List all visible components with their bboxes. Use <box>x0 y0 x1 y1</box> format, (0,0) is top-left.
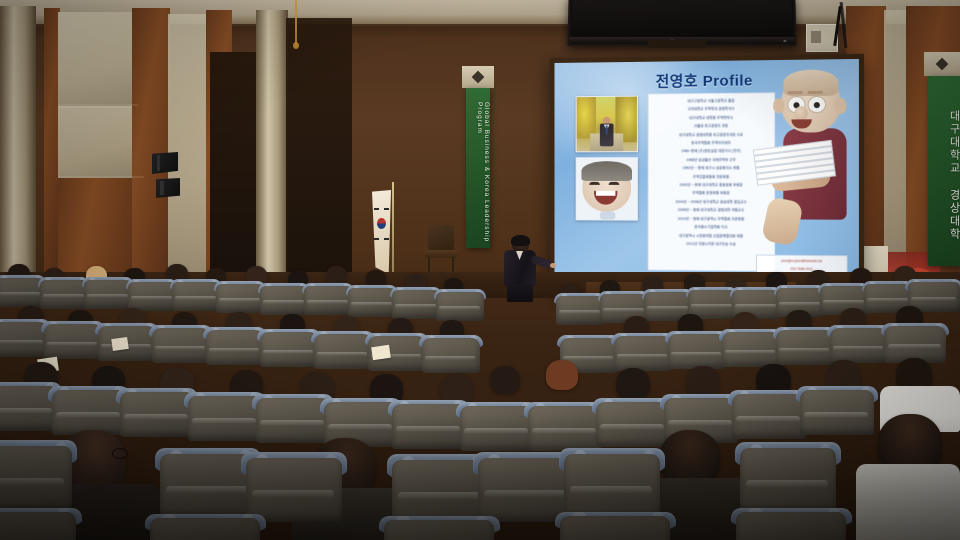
auditorium-seat-foreground <box>560 516 670 540</box>
wall-column-mid <box>256 10 288 296</box>
projection-screen: 전영호 Profile 대구고등학교 서울고등학교 졸업 고려대학교 무역학과 … <box>554 59 858 291</box>
taegeuk-symbol <box>377 218 386 229</box>
audience-head <box>490 366 520 394</box>
slide-bullet: 무역협회 운영위원 부회장 <box>651 189 773 198</box>
projection-screen-frame: 전영호 Profile 대구고등학교 서울고등학교 졸업 고려대학교 무역학과 … <box>550 54 864 296</box>
tv-mount-bracket <box>648 40 706 48</box>
banner-left: Global Business & Korea Leadership Progr… <box>466 88 490 248</box>
slide-portrait-photo <box>576 96 638 153</box>
slide-bullet: 2012년 자랑스러운 대구인상 수상 <box>651 240 773 249</box>
eyeglasses <box>112 448 128 459</box>
auditorium-seat-foreground <box>0 512 76 540</box>
hanging-cord-weight <box>293 42 299 49</box>
auditorium-seat-foreground <box>150 518 260 540</box>
banner-cap-left <box>462 66 494 88</box>
slide-bullet: 1992년 ~ 현재 대구대학교 총동창회 부회장 <box>651 181 773 190</box>
panel-trim-2 <box>58 176 144 178</box>
audience-seating-area <box>0 262 960 540</box>
handout-paper <box>111 337 129 351</box>
panel-trim-1 <box>58 104 138 106</box>
auditorium-photo: Panasonic Global Business & Korea Leader… <box>0 0 960 540</box>
auditorium-seat-foreground <box>736 512 846 540</box>
wall-column-left <box>0 6 36 294</box>
slide-bullet: 한국무역협회 무역아카데미 <box>651 139 773 148</box>
wood-pilaster-2 <box>132 8 170 296</box>
banner-right-text: 대구대학교 경상대학 <box>928 76 960 266</box>
banner-right: 대구대학교 경상대학 <box>928 76 960 266</box>
audience-shoulders-foreground <box>856 464 960 540</box>
banner-cap-right <box>924 52 960 76</box>
slide-bullet: 무역진흥위원회 전문위원 <box>651 173 773 181</box>
audience-head <box>546 360 578 390</box>
audience-head <box>616 368 650 400</box>
wall-speaker-upper <box>152 152 178 174</box>
beige-panel-upper-left <box>58 12 136 108</box>
banner-left-text: Global Business & Korea Leadership Progr… <box>466 88 490 248</box>
hanging-cord <box>295 0 297 44</box>
tv-screen <box>572 0 793 42</box>
beige-panel-mid-left <box>58 106 136 180</box>
dark-wall-recess <box>286 18 352 294</box>
tv-power-led <box>783 40 786 42</box>
handout-paper <box>371 345 391 360</box>
auditorium-seat <box>556 296 604 338</box>
doorway-recess <box>210 52 258 294</box>
wall-speaker-lower <box>156 178 180 198</box>
slide-caricature-image <box>576 157 638 221</box>
slide-cartoon-clipart <box>761 71 855 260</box>
auditorium-seat-foreground <box>384 520 494 540</box>
